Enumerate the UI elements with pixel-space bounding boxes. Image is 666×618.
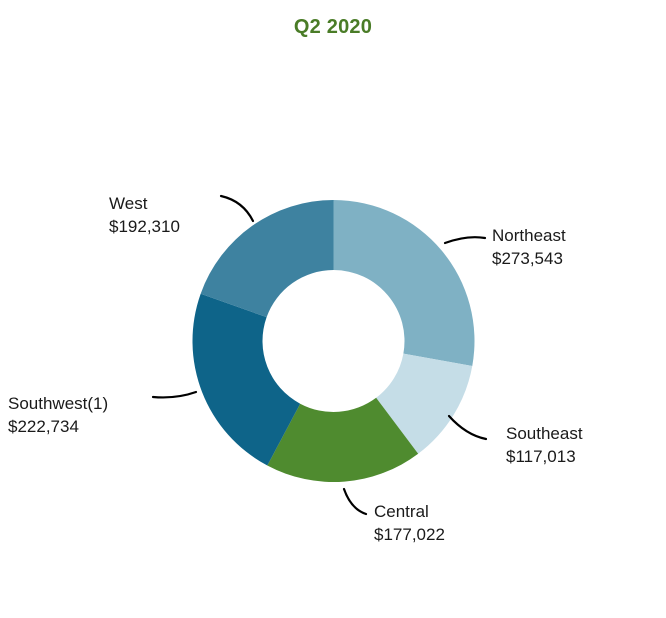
slice-label-west: West $192,310 xyxy=(109,192,180,239)
slice-label-southeast-value: $117,013 xyxy=(506,445,583,468)
donut-slice-west[interactable] xyxy=(201,200,334,317)
leader-line-southwest xyxy=(153,392,196,397)
leader-line-northeast xyxy=(445,237,485,243)
donut-chart-container: Q2 2020 Northeast $273,543 Southeast $11… xyxy=(0,0,666,618)
slice-label-northeast: Northeast $273,543 xyxy=(492,224,566,271)
slice-label-west-value: $192,310 xyxy=(109,215,180,238)
slice-label-central: Central $177,022 xyxy=(374,500,445,547)
slice-label-west-name: West xyxy=(109,192,180,215)
leader-line-central xyxy=(344,489,366,514)
slice-label-central-name: Central xyxy=(374,500,445,523)
slice-label-northeast-value: $273,543 xyxy=(492,247,566,270)
leader-line-west xyxy=(221,196,253,221)
slice-label-southeast-name: Southeast xyxy=(506,422,583,445)
slice-label-northeast-name: Northeast xyxy=(492,224,566,247)
slice-label-southeast: Southeast $117,013 xyxy=(506,422,583,469)
leader-line-southeast xyxy=(449,416,486,439)
slice-label-southwest-value: $222,734 xyxy=(8,415,108,438)
slice-label-central-value: $177,022 xyxy=(374,523,445,546)
donut-slice-northeast[interactable] xyxy=(334,200,475,366)
slice-label-southwest: Southwest(1) $222,734 xyxy=(8,392,108,439)
slice-label-southwest-name: Southwest(1) xyxy=(8,392,108,415)
donut-chart-svg xyxy=(0,0,666,618)
donut-slice-group xyxy=(192,200,474,482)
